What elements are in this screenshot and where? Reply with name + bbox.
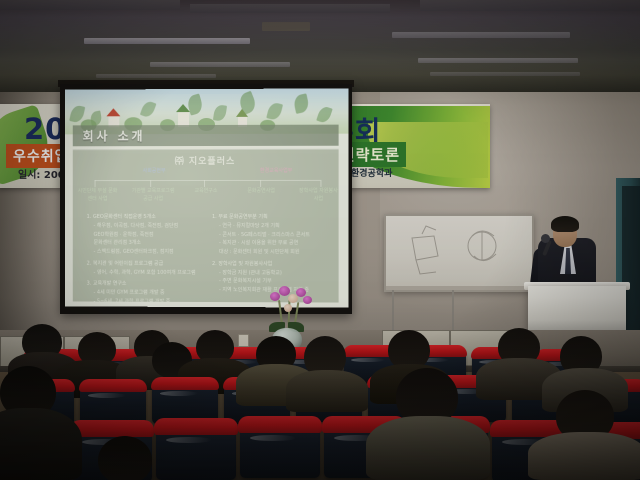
slide-column-left: 1. GEO문화센터 직접운영 5개소 - 해우점, 이곡점, 다사점, 죽전점… <box>87 210 206 307</box>
lecture-hall-photo: 200 수회 우수취업 공전략토론 일시: 2009. 대학교 환경공학과 <box>0 0 640 480</box>
org-node: 문화공연사업 <box>238 188 284 196</box>
slide-bullet: - 5~6세, 7세 과학 프로그램 개발 중 <box>87 297 206 306</box>
audience-head <box>98 436 152 480</box>
org-division-left: 사회공헌부 <box>124 168 184 176</box>
slide-bullet: - 연극 · 뮤지컬마당 2개 기획 <box>212 222 335 231</box>
slide-bullet: - 복지관 · 시설 이용을 위한 무료 공연 <box>212 239 335 248</box>
leaf-icon <box>293 93 311 114</box>
audience-shoulders <box>528 432 640 480</box>
org-node: 시민단체 부설 문화센터 사업 <box>77 188 119 203</box>
slide-company-name: ㈜ 지오플러스 <box>73 154 339 167</box>
whiteboard-leg <box>452 290 454 334</box>
slide-bullet: 대상 : 문화센터 회원 및 시민단체 회원 <box>212 248 335 257</box>
orchid-bloom <box>303 296 312 304</box>
ceiling-light <box>84 38 250 44</box>
microphone-icon <box>541 234 550 243</box>
slide-bullet: - 스맥드림점, GEO센터파크점, 점지점 <box>87 248 206 257</box>
org-node: 장학사업 자원봉사 사업 <box>296 188 340 203</box>
org-connector <box>320 180 321 187</box>
ceiling-beam <box>190 4 390 13</box>
leaf-icon <box>140 100 157 119</box>
slide-column-right: 1. 무료 문화공연부분 기획 - 연극 · 뮤지컬마당 2개 기획 - 콘서트… <box>212 210 335 295</box>
ceiling-vent <box>262 22 310 31</box>
audience-shoulders <box>286 370 368 412</box>
orchid-bloom <box>270 292 280 301</box>
audience-shoulders <box>0 408 82 480</box>
slide-bullet: - 영어, 수학, 과학, GYM 포함 100여개 프로그램 <box>87 268 206 277</box>
org-connector <box>150 180 151 187</box>
slide-bullet: 문화센터 관리점 3개소 <box>87 239 206 248</box>
projected-slide: 회사 소개 ㈜ 지오플러스 사회공헌부 환경교육사업부 시민단체 부설 문화센터… <box>65 88 349 307</box>
whiteboard-tray <box>386 286 528 290</box>
ceiling-beam <box>0 0 180 10</box>
slide-title: 회사 소개 <box>73 127 146 144</box>
slide-bullet: GEO학원점 · 운학점, 죽전점 <box>87 230 206 239</box>
org-division-right: 환경교육사업부 <box>240 168 312 176</box>
slide-content-panel: ㈜ 지오플러스 사회공헌부 환경교육사업부 시민단체 부설 문화센터 사업 기관… <box>73 149 339 303</box>
org-node: 기관별 교육프로그램 공급 사업 <box>130 188 176 203</box>
orchid-bloom <box>284 304 292 312</box>
leaf-icon <box>316 105 332 124</box>
slide-bullet: 1. 무료 문화공연부분 기획 <box>212 213 335 222</box>
slide-bullet: - 해우점, 이곡점, 다사점, 죽전점, 검단점 <box>87 222 206 231</box>
speaker-hair <box>551 216 579 232</box>
whiteboard-sketch-icon <box>386 216 528 286</box>
projection-screen-frame: 회사 소개 ㈜ 지오플러스 사회공헌부 환경교육사업부 시민단체 부설 문화센터… <box>60 84 352 314</box>
org-connector <box>95 180 96 187</box>
org-connector <box>260 180 261 187</box>
org-connector <box>95 180 321 181</box>
leaf-icon <box>266 101 283 121</box>
org-connector <box>204 180 205 187</box>
ceiling-beam <box>420 0 640 11</box>
org-node: 교육연구소 <box>186 188 226 196</box>
auditorium-seat <box>156 422 236 480</box>
auditorium-seat <box>240 420 320 478</box>
slide-bullet: - 장학금 지원 (관내 고등학교) <box>212 269 335 278</box>
slide-bullet: - 콘서트 · 5G페스티벌 · 크리스마스 콘서트 <box>212 231 335 240</box>
leaf-icon <box>213 104 227 121</box>
ceiling-light <box>392 32 570 38</box>
slide-bullet: 2. 장학사업 및 자원봉사사업 <box>212 260 335 269</box>
wall-outlet <box>238 334 249 347</box>
slide-title-bar: 회사 소개 <box>73 125 339 147</box>
slide-bullet: 3. 교육개발 연구소 <box>87 280 206 289</box>
slide-bullet: 2. 복지관 및 어린이집 프로그램 공급 <box>87 259 206 268</box>
slide-bullet: 1. GEO문화센터 직접운영 5개소 <box>87 213 206 222</box>
whiteboard-leg <box>392 290 394 334</box>
slide-bullet: - 주변 문화복지시설 기부 <box>212 277 335 286</box>
audience-shoulders <box>366 416 490 480</box>
whiteboard <box>384 214 534 292</box>
